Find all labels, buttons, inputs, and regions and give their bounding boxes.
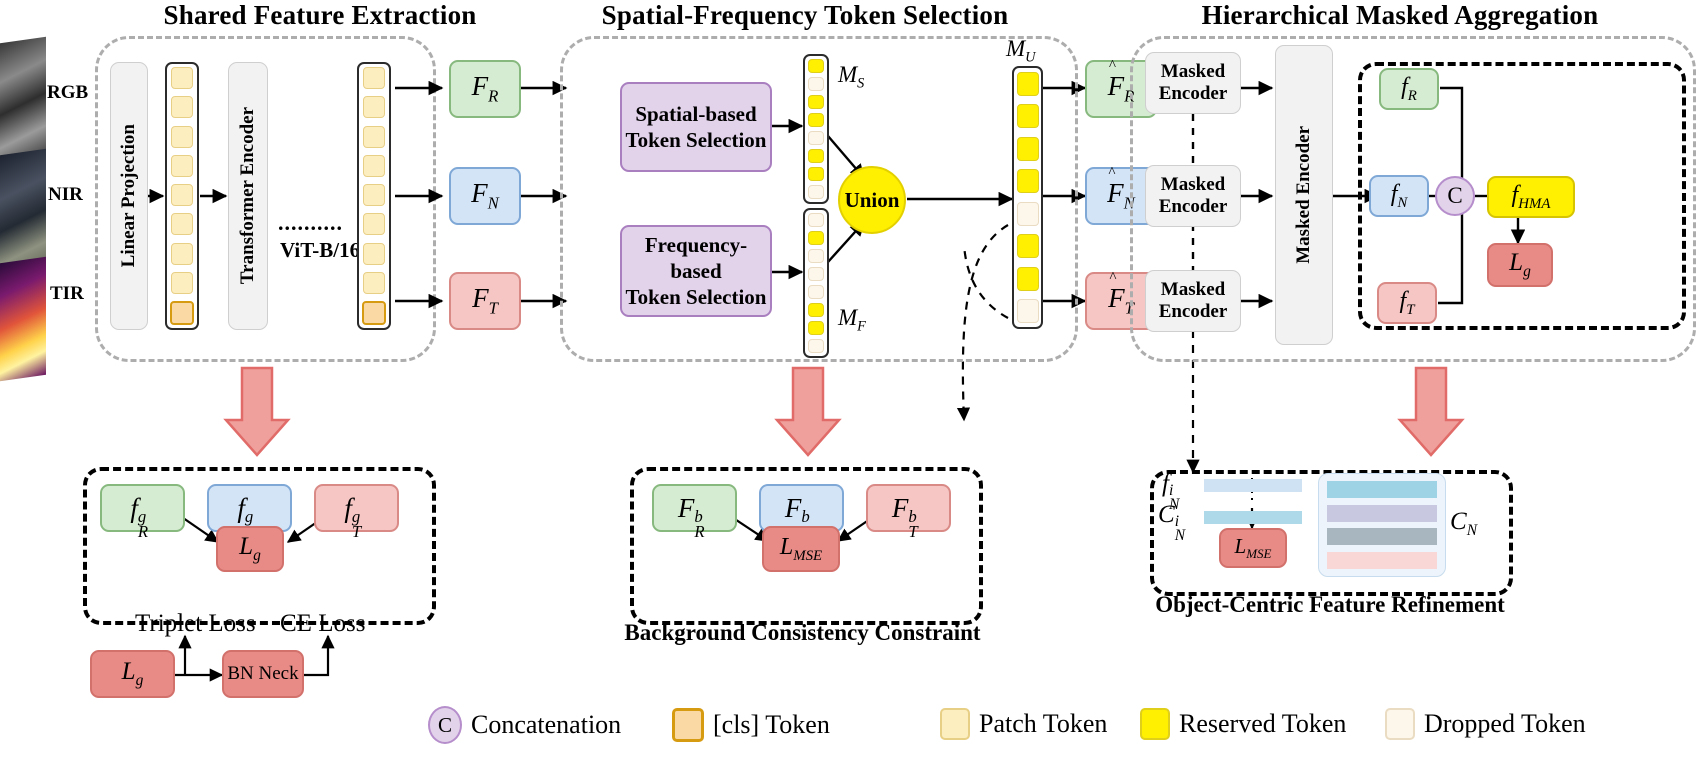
bcc-caption: Background Consistency Constraint <box>600 620 1005 646</box>
legend-label-patch-token: Patch Token <box>979 709 1107 739</box>
Fb-N-label: F <box>785 493 802 523</box>
reserved-token <box>1017 234 1039 258</box>
big-masked-encoder-block: Masked Encoder <box>1275 45 1333 345</box>
feature-f-HMA-box: fHMA <box>1487 176 1575 218</box>
masked-encoder-line1: Masked <box>1161 174 1225 196</box>
reserved-token <box>808 321 824 335</box>
ce-loss-label: CE Loss <box>280 610 365 638</box>
reserved-token <box>1017 104 1039 128</box>
token-column-input <box>165 62 199 330</box>
feature-F-T-label: F <box>472 283 489 313</box>
ocfr-caption: Object-Centric Feature Refinement <box>1135 592 1525 618</box>
legend-label-cls-token: [cls] Token <box>713 710 830 740</box>
ocfr-Ci-N-label: C i N <box>1158 501 1190 529</box>
bcc-loss-label: L <box>780 534 793 560</box>
mask-column-M-F <box>803 208 829 358</box>
dropped-token <box>808 249 824 263</box>
patch-token <box>363 184 385 206</box>
reserved-token <box>1017 72 1039 96</box>
cluster-bar <box>1327 528 1437 545</box>
dropped-token <box>808 77 824 91</box>
spatial-based-token-selection-block: Spatial-based Token Selection <box>620 82 772 172</box>
dropped-token-swatch-icon <box>1385 708 1415 740</box>
cls-token <box>170 301 194 325</box>
legend-item-cls-token: [cls] Token <box>672 708 830 742</box>
reserved-token <box>1017 267 1039 291</box>
feature-F-N-label: F <box>471 178 488 208</box>
masked-encoder-line2: Encoder <box>1159 301 1228 323</box>
legend-item-reserved-token: Reserved Token <box>1140 708 1346 740</box>
ocfr-cluster-panel <box>1318 473 1446 577</box>
dropped-token <box>1017 202 1039 226</box>
cluster-bar <box>1327 481 1437 498</box>
section-title-right: Hierarchical Masked Aggregation <box>1110 0 1690 31</box>
union-label: Union <box>845 188 900 213</box>
global-loss-label: L <box>239 533 253 560</box>
feature-F-R-label: F <box>472 71 489 101</box>
global-loss-Lg-box: Lg <box>216 526 284 572</box>
patch-token <box>171 184 193 206</box>
feature-fg-N-box: f g N <box>207 484 292 532</box>
red-arrow-right <box>1400 368 1462 455</box>
frequency-selection-line1: Frequency-based <box>622 232 770 285</box>
dropped-token <box>1017 299 1039 323</box>
section-title-left: Shared Feature Extraction <box>80 0 560 31</box>
hma-loss-Lg-box: Lg <box>1487 243 1553 287</box>
ocfr-fi-N-label: f i N <box>1162 470 1184 498</box>
red-arrow-middle <box>777 368 839 455</box>
fg-N-label: f <box>237 493 245 523</box>
mask-column-M-U <box>1012 66 1043 329</box>
section-title-middle: Spatial-Frequency Token Selection <box>540 0 1070 31</box>
transformer-encoder-label: Transformer Encoder <box>237 107 259 284</box>
masked-encoder-block-tir: Masked Encoder <box>1145 270 1241 332</box>
input-image-tir <box>0 257 46 381</box>
concatenation-label: C <box>1447 183 1462 209</box>
ocfr-Ci-N-bar <box>1204 511 1302 524</box>
feature-Fb-N-box: F b N <box>759 484 844 532</box>
feature-Fhat-R-label: F^ <box>1108 71 1125 101</box>
legend-label-concatenation: Concatenation <box>471 710 621 740</box>
patch-token <box>363 126 385 148</box>
patch-token <box>171 243 193 265</box>
patch-token <box>171 67 193 89</box>
feature-F-N-subscript: N <box>488 194 499 213</box>
dropped-token <box>808 267 824 281</box>
reserved-token <box>808 95 824 109</box>
patch-token <box>171 272 193 294</box>
cluster-bar <box>1327 505 1437 522</box>
reserved-token <box>808 231 824 245</box>
feature-F-N-box: FN <box>449 167 521 225</box>
patch-token <box>363 155 385 177</box>
mask-label-M-U: MU <box>1006 36 1035 67</box>
legend-item-dropped-token: Dropped Token <box>1385 708 1586 740</box>
Fb-R-label: F <box>678 493 695 523</box>
feature-F-T-subscript: T <box>489 299 498 318</box>
red-arrow-left <box>226 368 288 455</box>
big-masked-encoder-label: Masked Encoder <box>1293 126 1315 264</box>
cls-token-swatch-icon <box>672 708 704 742</box>
transformer-encoder-block: Transformer Encoder <box>228 62 268 330</box>
cluster-bar <box>1327 552 1437 569</box>
bn-neck-label: BN Neck <box>227 663 298 685</box>
dropped-token <box>808 185 824 199</box>
vit-backbone-label: ViT-B/16 <box>280 238 360 263</box>
modality-label-tir: TIR <box>50 283 84 305</box>
dropped-token <box>808 131 824 145</box>
reserved-token <box>808 59 824 73</box>
ocfr-C-N-label: CN <box>1450 508 1477 540</box>
legend-item-patch-token: Patch Token <box>940 708 1107 740</box>
masked-encoder-block-nir: Masked Encoder <box>1145 165 1241 227</box>
patch-token <box>171 155 193 177</box>
triplet-loss-label: Triplet Loss <box>135 610 256 638</box>
feature-Fhat-T-label: F^ <box>1108 283 1125 313</box>
spatial-selection-line1: Spatial-based <box>635 101 756 127</box>
reserved-token <box>1017 137 1039 161</box>
patch-token <box>171 213 193 235</box>
masked-encoder-line2: Encoder <box>1159 196 1228 218</box>
fg-T-label: f <box>344 493 352 523</box>
ocfr-loss-label: L <box>1235 534 1247 558</box>
hma-loss-label: L <box>1509 249 1523 276</box>
reserved-token <box>808 167 824 181</box>
masked-encoder-block-rgb: Masked Encoder <box>1145 52 1241 114</box>
feature-F-T-box: FT <box>449 272 521 330</box>
feature-f-R-label: f <box>1401 74 1408 100</box>
spatial-selection-line2: Token Selection <box>626 127 767 153</box>
dropped-token <box>808 285 824 299</box>
feature-F-R-box: FR <box>449 60 521 118</box>
patch-token <box>363 243 385 265</box>
loss-legend-label: L <box>122 658 136 685</box>
patch-token <box>363 96 385 118</box>
mask-column-M-S <box>803 54 829 204</box>
bn-neck-box: BN Neck <box>222 650 304 698</box>
masked-encoder-line1: Masked <box>1161 61 1225 83</box>
concat-circle-icon: C <box>428 706 462 744</box>
patch-token <box>171 126 193 148</box>
feature-f-N-box: fN <box>1369 175 1429 217</box>
feature-Fb-T-box: F b T <box>866 484 951 532</box>
patch-token-swatch-icon <box>940 708 970 740</box>
modality-label-rgb: RGB <box>47 82 88 104</box>
feature-Fhat-N-label: F^ <box>1107 178 1124 208</box>
Fb-T-label: F <box>892 493 909 523</box>
feature-fg-R-box: f g R <box>100 484 185 532</box>
reserved-token <box>808 113 824 127</box>
dropped-token <box>808 339 824 353</box>
reserved-token-swatch-icon <box>1140 708 1170 740</box>
mask-label-M-S: MS <box>838 62 864 93</box>
legend-label-reserved-token: Reserved Token <box>1179 709 1346 739</box>
legend-label-dropped-token: Dropped Token <box>1424 709 1586 739</box>
feature-F-R-subscript: R <box>488 87 498 106</box>
ocfr-fi-N-bar <box>1204 479 1302 492</box>
feature-Fb-R-box: F b R <box>652 484 737 532</box>
reserved-token <box>808 149 824 163</box>
feature-f-R-box: fR <box>1379 68 1439 110</box>
patch-token <box>363 272 385 294</box>
patch-token <box>363 67 385 89</box>
dropped-token <box>808 213 824 227</box>
frequency-based-token-selection-block: Frequency-based Token Selection <box>620 225 772 317</box>
reserved-token <box>1017 169 1039 193</box>
modality-label-nir: NIR <box>48 184 83 206</box>
feature-fg-T-box: f g T <box>314 484 399 532</box>
feature-f-T-box: fT <box>1377 282 1437 324</box>
bcc-loss-LMSE-box: LMSE <box>762 526 840 572</box>
token-column-output <box>357 62 391 330</box>
masked-encoder-line2: Encoder <box>1159 83 1228 105</box>
patch-token <box>171 96 193 118</box>
union-node: Union <box>838 166 906 234</box>
loss-legend-Lg-box: Lg <box>90 650 175 698</box>
input-image-nir <box>0 149 46 267</box>
patch-token <box>363 213 385 235</box>
mask-label-M-F: MF <box>838 305 866 336</box>
linear-projection-label: Linear Projection <box>118 124 140 267</box>
legend-item-concatenation: C Concatenation <box>428 706 621 744</box>
ellipsis-dots: .......... <box>278 210 343 236</box>
frequency-selection-line2: Token Selection <box>626 284 767 310</box>
input-image-rgb <box>0 37 46 158</box>
cls-token <box>362 301 386 325</box>
reserved-token <box>808 303 824 317</box>
concatenation-node: C <box>1435 176 1475 216</box>
masked-encoder-line1: Masked <box>1161 279 1225 301</box>
linear-projection-block: Linear Projection <box>110 62 148 330</box>
fg-R-label: f <box>130 493 138 523</box>
ocfr-loss-LMSE-box: LMSE <box>1219 528 1287 568</box>
